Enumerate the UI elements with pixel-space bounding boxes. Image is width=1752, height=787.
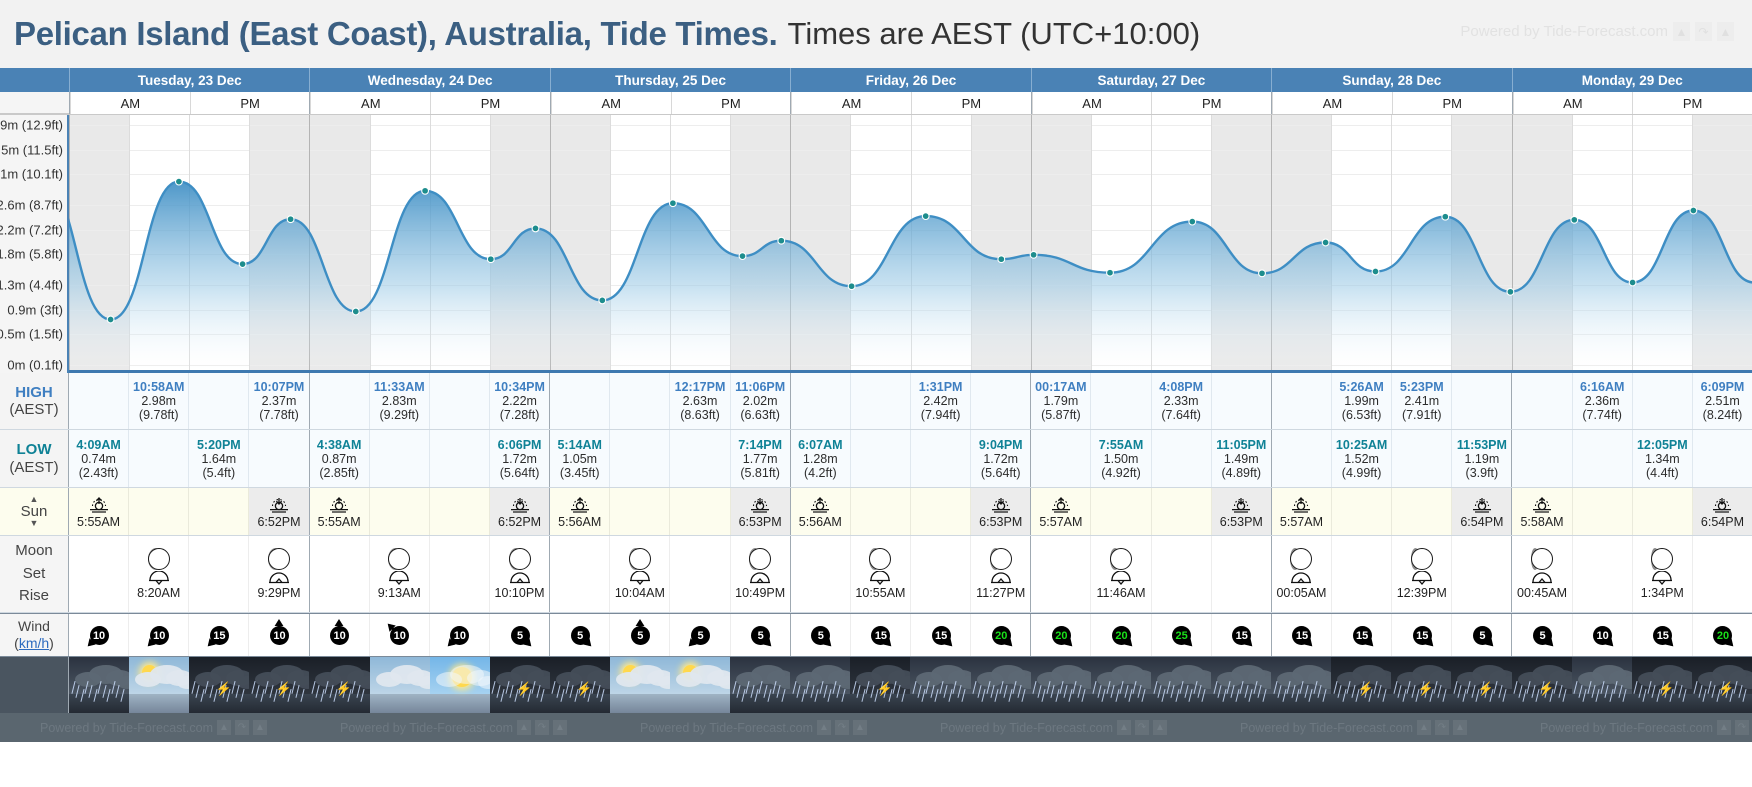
- weather-row: ⚡⚡⚡⚡⚡⚡⚡⚡⚡⚡⚡⚡: [0, 657, 1752, 713]
- weather-tile-rain-night: [730, 657, 790, 713]
- refresh-icon: ↷: [1135, 720, 1149, 735]
- wind-direction-icon: 15: [1284, 618, 1318, 652]
- high-tide-height-ft: (7.91ft): [1402, 408, 1442, 422]
- high-tide-time: 10:58AM: [133, 380, 184, 394]
- ampm-day-0: AMPM: [69, 92, 309, 114]
- tide-curve-plot: [69, 115, 1752, 373]
- chart-icon: ▲: [817, 720, 831, 735]
- sun-time: 5:58AM: [1520, 515, 1563, 529]
- moon-day-3: 10:55AM11:27PM: [790, 536, 1031, 612]
- sun-cell: 6:52PM: [489, 488, 549, 535]
- moon-phase-icon: [1651, 548, 1673, 570]
- wind-speed-badge: 10: [330, 626, 349, 645]
- moonrise-icon: [989, 571, 1013, 585]
- wind-direction-icon: 5: [683, 618, 717, 652]
- weather-tile-storm-night: ⚡: [309, 657, 369, 713]
- high-tide-cell: [850, 373, 910, 429]
- moon-phase-icon: [1531, 548, 1553, 570]
- wind-cell: 20: [1031, 614, 1090, 656]
- wind-speed-badge: 15: [1353, 626, 1372, 645]
- sun-glyph: [1469, 495, 1495, 514]
- footer-powered-by-text: Powered by Tide-Forecast.com: [940, 721, 1113, 735]
- high-tide-height-ft: (7.78ft): [259, 408, 299, 422]
- high-tide-marker: [1690, 207, 1697, 214]
- wave-icon: ▲: [1717, 22, 1734, 41]
- moon-time: 00:45AM: [1517, 586, 1567, 600]
- low-tide-height-m: 0.74m: [81, 452, 116, 466]
- high-tide-height-m: 2.37m: [262, 394, 297, 408]
- ampm-label-0-am: AM: [70, 92, 190, 114]
- moon-day-2: 10:04AM10:49PM: [549, 536, 790, 612]
- weather-day-0: ⚡⚡: [69, 657, 309, 713]
- low-tide-cell: 6:07AM1.28m(4.2ft): [791, 430, 850, 487]
- sun-time: 6:53PM: [979, 515, 1022, 529]
- wind-day-3: 5151520: [790, 614, 1031, 656]
- high-tide-cell: [791, 373, 850, 429]
- lightning-icon: ⚡: [1658, 682, 1674, 695]
- sunrise-icon: [326, 495, 352, 515]
- low-tide-height-ft: (5.4ft): [203, 466, 236, 480]
- wave-icon: ▲: [1453, 720, 1467, 735]
- wind-unit-link[interactable]: km/h: [19, 635, 49, 651]
- low-tide-height-ft: (5.64ft): [500, 466, 540, 480]
- low-tide-height-ft: (3.45ft): [560, 466, 600, 480]
- high-tide-cell: 10:58AM2.98m(9.78ft): [128, 373, 188, 429]
- refresh-icon: ↷: [835, 720, 849, 735]
- high-tide-height-m: 2.83m: [382, 394, 417, 408]
- wind-speed-badge: 5: [1473, 626, 1492, 645]
- high-tide-cell: 4:08PM2.33m(7.64ft): [1151, 373, 1211, 429]
- moon-label: Moon Set Rise: [0, 536, 69, 612]
- low-tide-day-0: 4:09AM0.74m(2.43ft)5:20PM1.64m(5.4ft): [69, 430, 309, 487]
- high-tide-time: 12:17PM: [675, 380, 726, 394]
- low-tide-time: 6:07AM: [798, 438, 842, 452]
- low-tide-cell: [1391, 430, 1451, 487]
- weather-tile-rain-night: [69, 657, 129, 713]
- low-tide-cell: [248, 430, 308, 487]
- sun-cell: [1391, 488, 1451, 535]
- low-tide-cell: [669, 430, 729, 487]
- sun-glyph: [86, 495, 112, 514]
- sun-cell: [369, 488, 429, 535]
- wind-direction-icon: 5: [1525, 618, 1559, 652]
- weather-tile-rain-night: [790, 657, 850, 713]
- lightning-icon: ⚡: [576, 682, 592, 695]
- moon-cell: [1451, 536, 1511, 612]
- sun-day-6: 5:58AM6:54PM: [1511, 488, 1752, 535]
- low-tide-height-m: 1.28m: [803, 452, 838, 466]
- sun-cell: [1632, 488, 1692, 535]
- low-tide-time: 10:25AM: [1336, 438, 1387, 452]
- weather-tile-storm-night: ⚡: [1692, 657, 1752, 713]
- moon-time: 10:49PM: [735, 586, 785, 600]
- weather-tile-partly-cloudy-day: [670, 657, 730, 713]
- moon-phase-icon: [509, 548, 531, 570]
- wind-speed-badge: 5: [691, 626, 710, 645]
- wind-speed-badge: 15: [932, 626, 951, 645]
- wind-speed-badge: 15: [1413, 626, 1432, 645]
- moon-time: 10:55AM: [855, 586, 905, 600]
- low-tide-height-ft: (3.9ft): [1466, 466, 1499, 480]
- high-tide-height-ft: (7.74ft): [1582, 408, 1622, 422]
- moon-time: 00:05AM: [1276, 586, 1326, 600]
- day-header-6: Monday, 29 Dec: [1512, 68, 1752, 92]
- moonset-icon: [1109, 571, 1133, 585]
- low-tide-time: 4:09AM: [76, 438, 120, 452]
- high-tide-height-ft: (7.94ft): [921, 408, 961, 422]
- moon-cell: 10:49PM: [730, 536, 790, 612]
- lightning-icon: ⚡: [1358, 682, 1374, 695]
- high-tide-marker: [778, 237, 785, 244]
- moonrise-icon: [1289, 571, 1313, 585]
- footer-powered-by-text: Powered by Tide-Forecast.com: [1240, 721, 1413, 735]
- sun-glyph: [807, 495, 833, 514]
- moon-phase-icon: [990, 548, 1012, 570]
- high-tide-day-6: 6:16AM2.36m(7.74ft)6:09PM2.51m(8.24ft): [1511, 373, 1752, 429]
- sun-time: 5:57AM: [1039, 515, 1082, 529]
- weather-tile-storm-night: ⚡: [490, 657, 550, 713]
- moon-cell: 10:04AM: [609, 536, 669, 612]
- chart-icon: ▲: [1417, 720, 1431, 735]
- high-tide-height-ft: (6.63ft): [740, 408, 780, 422]
- sun-day-0: 5:55AM6:52PM: [69, 488, 309, 535]
- weather-tile-storm-night: ⚡: [850, 657, 910, 713]
- sun-cell: [1572, 488, 1632, 535]
- weather-cells: ⚡⚡⚡⚡⚡⚡⚡⚡⚡⚡⚡⚡: [69, 657, 1752, 713]
- sun-cell: 6:54PM: [1692, 488, 1752, 535]
- wind-cell: 5: [550, 614, 609, 656]
- moonset-icon: [628, 571, 652, 585]
- low-tide-cell: 4:09AM0.74m(2.43ft): [69, 430, 128, 487]
- moon-cell: [669, 536, 729, 612]
- chart-icon: ▲: [517, 720, 531, 735]
- wind-speed-badge: 10: [270, 626, 289, 645]
- high-tide-cell: 11:33AM2.83m(9.29ft): [369, 373, 429, 429]
- weather-day-6: ⚡⚡⚡: [1512, 657, 1752, 713]
- ampm-label-6-am: AM: [1513, 92, 1633, 114]
- timezone-subtitle: Times are AEST (UTC+10:00): [788, 16, 1201, 52]
- moon-phase-icon: [1290, 548, 1312, 570]
- moonset-icon: [1410, 571, 1434, 585]
- low-tide-cell: 5:14AM1.05m(3.45ft): [550, 430, 609, 487]
- high-tide-marker: [922, 213, 929, 220]
- low-tide-marker: [1507, 288, 1514, 295]
- high-tide-height-ft: (8.63ft): [680, 408, 720, 422]
- moon-cell: [1572, 536, 1632, 612]
- sun-cell: 5:55AM: [310, 488, 369, 535]
- low-tide-cell: 10:25AM1.52m(4.99ft): [1331, 430, 1391, 487]
- wind-day-2: 5555: [549, 614, 790, 656]
- high-tide-marker: [1442, 213, 1449, 220]
- sun-glyph: [1529, 495, 1555, 514]
- refresh-icon: ↷: [535, 720, 549, 735]
- low-tide-height-m: 0.87m: [322, 452, 357, 466]
- moon-cell: [188, 536, 248, 612]
- moonrise-icon: [508, 571, 532, 585]
- low-tide-height-m: 1.72m: [502, 452, 537, 466]
- low-tide-cell: [1572, 430, 1632, 487]
- wind-label-text: Wind: [18, 618, 50, 635]
- low-tide-height-m: 1.64m: [201, 452, 236, 466]
- ampm-day-3: AMPM: [790, 92, 1030, 114]
- sunrise-icon: [567, 495, 593, 515]
- sunset-icon: [1228, 495, 1254, 515]
- footer-powered-by-text: Powered by Tide-Forecast.com: [340, 721, 513, 735]
- high-tide-height-m: 2.51m: [1705, 394, 1740, 408]
- footer-powered-by: Powered by Tide-Forecast.com▲↷▲: [940, 720, 1167, 735]
- weather-tile-cloudy-day: [370, 657, 430, 713]
- high-tide-time: 10:34PM: [494, 380, 545, 394]
- day-header-0: Tuesday, 23 Dec: [69, 68, 309, 92]
- sun-day-5: 5:57AM6:54PM: [1271, 488, 1512, 535]
- sun-glyph: [567, 495, 593, 514]
- wave-icon: ▲: [1153, 720, 1167, 735]
- wind-cell: 10: [1572, 614, 1632, 656]
- low-tide-cell: 12:05PM1.34m(4.4ft): [1632, 430, 1692, 487]
- moon-cell: 10:10PM: [489, 536, 549, 612]
- wind-cell: 15: [910, 614, 970, 656]
- low-tide-label: LOW (AEST): [0, 430, 69, 487]
- y-axis-tick-6: 1.3m (4.4ft): [0, 278, 63, 293]
- weather-day-5: ⚡⚡⚡: [1271, 657, 1511, 713]
- high-tide-height-m: 1.99m: [1344, 394, 1379, 408]
- high-tide-cell: 12:17PM2.63m(8.63ft): [669, 373, 729, 429]
- wind-direction-icon: 10: [82, 618, 116, 652]
- sun-time: 6:54PM: [1460, 515, 1503, 529]
- ampm-header-row: AMPMAMPMAMPMAMPMAMPMAMPMAMPM: [0, 92, 1752, 115]
- day-header-2: Thursday, 25 Dec: [550, 68, 790, 92]
- weather-tile-storm-night: ⚡: [550, 657, 610, 713]
- sunset-icon: [988, 495, 1014, 515]
- low-tide-cell: 5:20PM1.64m(5.4ft): [188, 430, 248, 487]
- sunset-icon: [507, 495, 533, 515]
- moon-time: 12:39PM: [1397, 586, 1447, 600]
- moon-day-1: 9:13AM10:10PM: [309, 536, 550, 612]
- high-tide-marker: [1322, 239, 1329, 246]
- weather-tile-storm-night: ⚡: [1331, 657, 1391, 713]
- wind-cell: 5: [1512, 614, 1571, 656]
- tide-area-fill: [69, 182, 1752, 373]
- wave-icon: ▲: [853, 720, 867, 735]
- chart-icon: ▲: [1673, 22, 1690, 41]
- high-tide-cell: 5:26AM1.99m(6.53ft): [1331, 373, 1391, 429]
- moon-cell: [310, 536, 369, 612]
- high-tide-marker: [176, 178, 183, 185]
- ampm-header-corner: [0, 92, 69, 114]
- moonrise-icon: [1530, 571, 1554, 585]
- weather-tile-storm-night: ⚡: [249, 657, 309, 713]
- high-tide-time: 11:06PM: [735, 380, 785, 394]
- sun-cell: [128, 488, 188, 535]
- moon-cell: [429, 536, 489, 612]
- wind-direction-icon: 10: [322, 618, 356, 652]
- wind-day-0: 10101510: [69, 614, 309, 656]
- ampm-label-3-am: AM: [791, 92, 911, 114]
- ampm-label-2-am: AM: [551, 92, 671, 114]
- wind-cell: 15: [1391, 614, 1451, 656]
- low-tide-marker: [1629, 279, 1636, 286]
- sun-time: 5:56AM: [558, 515, 601, 529]
- wind-speed-badge: 5: [751, 626, 770, 645]
- high-tide-height-m: 2.41m: [1404, 394, 1439, 408]
- high-tide-cell: 6:09PM2.51m(8.24ft): [1692, 373, 1752, 429]
- moon-cell: [1211, 536, 1271, 612]
- wind-speed-badge: 10: [90, 626, 109, 645]
- wind-label: Wind (km/h): [0, 614, 69, 656]
- wind-direction-icon: 15: [1405, 618, 1439, 652]
- sun-time: 6:52PM: [498, 515, 541, 529]
- high-tide-height-m: 1.79m: [1044, 394, 1079, 408]
- low-tide-height-m: 1.72m: [983, 452, 1018, 466]
- wind-direction-icon: 15: [1645, 618, 1679, 652]
- moon-cell: [1331, 536, 1391, 612]
- ampm-label-2-pm: PM: [671, 92, 791, 114]
- moon-cell: 12:39PM: [1391, 536, 1451, 612]
- wind-direction-icon: 15: [1345, 618, 1379, 652]
- sun-cell: 5:56AM: [550, 488, 609, 535]
- lightning-icon: ⚡: [1718, 682, 1734, 695]
- wind-day-4: 20202515: [1030, 614, 1271, 656]
- sun-glyph: [266, 495, 292, 514]
- wind-speed-badge: 20: [1052, 626, 1071, 645]
- y-axis-tick-2: 3.1m (10.1ft): [0, 167, 63, 182]
- low-tide-cell: 4:38AM0.87m(2.85ft): [310, 430, 369, 487]
- wind-cell: 5: [669, 614, 729, 656]
- lightning-icon: ⚡: [1418, 682, 1434, 695]
- wind-day-6: 5101520: [1511, 614, 1752, 656]
- moon-cell: [910, 536, 970, 612]
- wind-speed-badge: 5: [631, 626, 650, 645]
- wind-speed-badge: 5: [571, 626, 590, 645]
- footer-powered-by: Powered by Tide-Forecast.com▲↷▲: [40, 720, 267, 735]
- weather-day-4: [1031, 657, 1271, 713]
- wind-cell: 20: [1090, 614, 1150, 656]
- moonset-icon: [147, 571, 171, 585]
- moonset-icon: [868, 571, 892, 585]
- high-tide-marker: [1189, 218, 1196, 225]
- day-header-corner: [0, 68, 69, 92]
- low-tide-marker: [1107, 269, 1114, 276]
- low-tide-day-5: 10:25AM1.52m(4.99ft)11:53PM1.19m(3.9ft): [1271, 430, 1512, 487]
- day-header-row: Tuesday, 23 DecWednesday, 24 DecThursday…: [0, 68, 1752, 92]
- y-axis-tick-8: 0.5m (1.5ft): [0, 327, 63, 342]
- low-tide-day-3: 6:07AM1.28m(4.2ft)9:04PM1.72m(5.64ft): [790, 430, 1031, 487]
- powered-by-watermark: Powered by Tide-Forecast.com ▲ ↷ ▲: [1460, 22, 1734, 41]
- moon-cell: [550, 536, 609, 612]
- weather-tile-rain-night: [1091, 657, 1151, 713]
- low-tide-time: 5:20PM: [197, 438, 241, 452]
- wind-direction-icon: 20: [1705, 618, 1739, 652]
- wind-cell: 5: [730, 614, 790, 656]
- footer-powered-by-text: Powered by Tide-Forecast.com: [40, 721, 213, 735]
- wind-direction-icon: 5: [1465, 618, 1499, 652]
- y-axis-tick-0: 3.9m (12.9ft): [0, 118, 63, 133]
- wind-cell: 10: [369, 614, 429, 656]
- ampm-day-1: AMPM: [309, 92, 549, 114]
- moon-day-4: 11:46AM: [1030, 536, 1271, 612]
- refresh-icon: ↷: [1695, 22, 1712, 41]
- high-tide-height-m: 2.98m: [141, 394, 176, 408]
- wind-cell: 5: [489, 614, 549, 656]
- sunrise-icon: [807, 495, 833, 515]
- moon-row: Moon Set Rise 8:20AM9:29PM9:13AM10:10PM1…: [0, 536, 1752, 613]
- ampm-day-4: AMPM: [1031, 92, 1271, 114]
- moon-cell: 1:34PM: [1632, 536, 1692, 612]
- low-tide-time: 11:05PM: [1216, 438, 1266, 452]
- high-tide-label-text: HIGH: [15, 384, 53, 401]
- moonset-icon: [1650, 571, 1674, 585]
- lightning-icon: ⚡: [1478, 682, 1494, 695]
- day-header-5: Sunday, 28 Dec: [1271, 68, 1511, 92]
- low-tide-day-4: 7:55AM1.50m(4.92ft)11:05PM1.49m(4.89ft): [1030, 430, 1271, 487]
- moon-phase-icon: [1110, 548, 1132, 570]
- moon-time: 11:27PM: [976, 586, 1025, 600]
- wind-speed-badge: 15: [210, 626, 229, 645]
- wind-cell: 20: [1692, 614, 1752, 656]
- sun-label: ▲ Sun ▼: [0, 488, 69, 535]
- weather-tile-storm-night: ⚡: [189, 657, 249, 713]
- ampm-label-5-pm: PM: [1392, 92, 1512, 114]
- sun-cell: 5:57AM: [1031, 488, 1090, 535]
- low-tide-cell: 11:53PM1.19m(3.9ft): [1451, 430, 1511, 487]
- weather-tile-rain-night: [1211, 657, 1271, 713]
- weather-day-1: ⚡⚡: [309, 657, 549, 713]
- low-tide-marker: [487, 256, 494, 263]
- wind-cell: 20: [970, 614, 1030, 656]
- low-tide-cell: 7:14PM1.77m(5.81ft): [730, 430, 790, 487]
- high-tide-time: 4:08PM: [1159, 380, 1203, 394]
- high-tide-height-ft: (8.24ft): [1703, 408, 1743, 422]
- wind-cell: 10: [69, 614, 128, 656]
- wind-direction-icon: 5: [563, 618, 597, 652]
- ampm-day-5: AMPM: [1271, 92, 1511, 114]
- high-tide-time: 1:31PM: [919, 380, 963, 394]
- low-tide-height-ft: (4.2ft): [804, 466, 837, 480]
- low-tide-marker: [599, 297, 606, 304]
- low-tide-height-m: 1.77m: [743, 452, 778, 466]
- low-tide-cell: 6:06PM1.72m(5.64ft): [489, 430, 549, 487]
- sun-cell: [609, 488, 669, 535]
- wind-cell: 10: [128, 614, 188, 656]
- low-tide-time: 6:06PM: [498, 438, 542, 452]
- high-tide-marker: [532, 225, 539, 232]
- moon-phase-icon: [388, 548, 410, 570]
- refresh-icon: ↷: [1435, 720, 1449, 735]
- wind-direction-icon: 10: [262, 618, 296, 652]
- ampm-header-cells: AMPMAMPMAMPMAMPMAMPMAMPMAMPM: [69, 92, 1752, 114]
- day-header-cells: Tuesday, 23 DecWednesday, 24 DecThursday…: [69, 68, 1752, 92]
- high-tide-cell: 5:23PM2.41m(7.91ft): [1391, 373, 1451, 429]
- sun-cell: 5:56AM: [791, 488, 850, 535]
- sun-glyph: [1228, 495, 1254, 514]
- low-tide-row: LOW (AEST) 4:09AM0.74m(2.43ft)5:20PM1.64…: [0, 430, 1752, 488]
- low-tide-height-ft: (4.89ft): [1222, 466, 1262, 480]
- moon-day-6: 00:45AM1:34PM: [1511, 536, 1752, 612]
- high-tide-height-m: 2.36m: [1585, 394, 1620, 408]
- low-tide-height-m: 1.49m: [1224, 452, 1259, 466]
- moon-cell: 8:20AM: [128, 536, 188, 612]
- high-tide-time: 5:26AM: [1339, 380, 1383, 394]
- high-tide-cell: [1272, 373, 1331, 429]
- low-tide-marker: [998, 256, 1005, 263]
- low-tide-cell: [369, 430, 429, 487]
- high-tide-marker: [1030, 251, 1037, 258]
- wind-unit-wrap: (km/h): [14, 635, 54, 652]
- low-tide-time: 4:38AM: [317, 438, 361, 452]
- high-tide-cell: 6:16AM2.36m(7.74ft): [1572, 373, 1632, 429]
- low-tide-cell: [910, 430, 970, 487]
- high-tide-cell: [609, 373, 669, 429]
